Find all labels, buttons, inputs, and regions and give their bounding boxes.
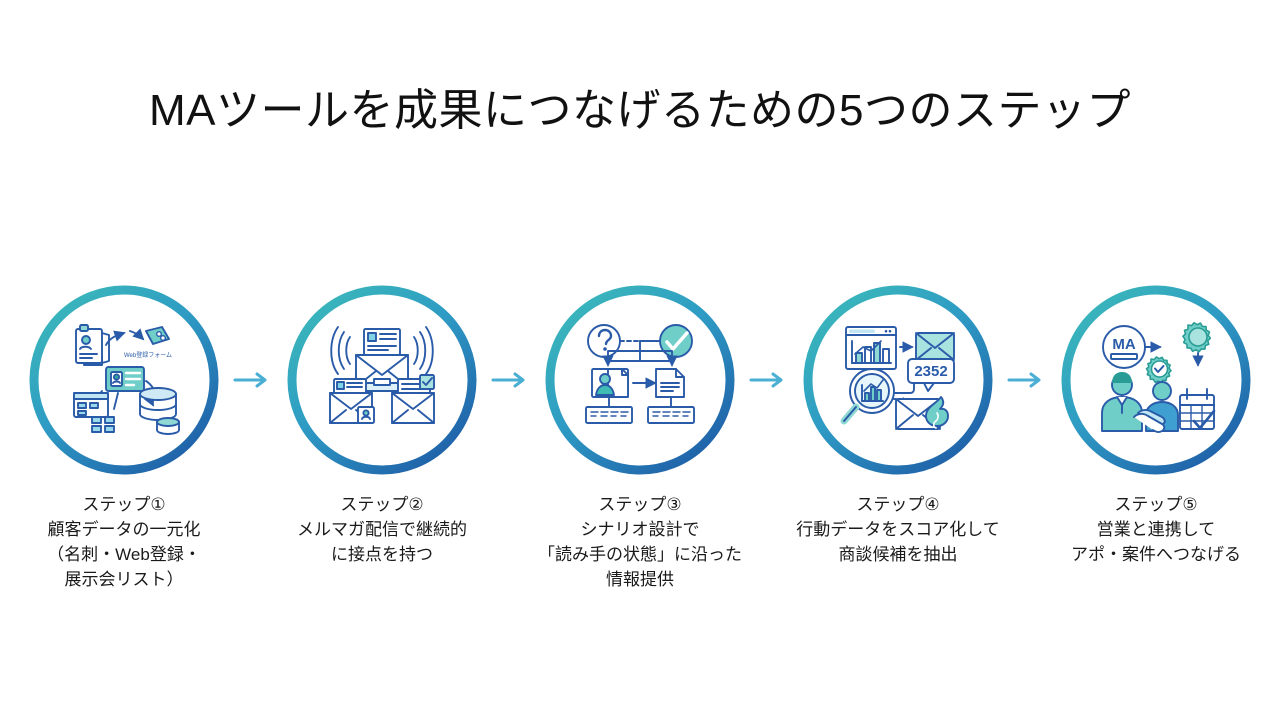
slide-canvas: MAツールを成果につなげるための5つのステップ — [0, 0, 1280, 720]
ma-badge-label: MA — [1112, 336, 1135, 353]
icon-inline-label-1: Web登録フォーム — [124, 351, 172, 359]
step-item-1[interactable]: Web登録フォーム ステップ① 顧客データの一元化 （名刺・Web登録・ 展示会… — [18, 280, 230, 592]
step-item-4[interactable]: 2352 ステップ④ 行動データをスコア化して 商談候補を抽出 — [792, 280, 1004, 567]
flow-arrow-4-5 — [1004, 280, 1050, 480]
flow-arrow-2-3 — [488, 280, 534, 480]
step-caption-2: ステップ② メルマガ配信で継続的 に接点を持つ — [266, 492, 498, 567]
flow-arrow-1-2 — [230, 280, 276, 480]
step-circle-4[interactable]: 2352 — [798, 280, 998, 480]
steps-row: Web登録フォーム ステップ① 顧客データの一元化 （名刺・Web登録・ 展示会… — [0, 280, 1280, 592]
page-title: MAツールを成果につなげるための5つのステップ — [0, 82, 1280, 140]
step-caption-1: ステップ① 顧客データの一元化 （名刺・Web登録・ 展示会リスト） — [8, 492, 240, 592]
step-circle-5[interactable]: MA — [1056, 280, 1256, 480]
step-caption-4: ステップ④ 行動データをスコア化して 商談候補を抽出 — [782, 492, 1014, 567]
step-caption-3: ステップ③ シナリオ設計で 「読み手の状態」に沿った 情報提供 — [524, 492, 756, 592]
sales-handoff-icon: MA — [1094, 321, 1218, 439]
customer-data-unification-icon: Web登録フォーム — [62, 321, 186, 439]
email-newsletter-broadcast-icon — [320, 321, 444, 439]
step-item-2[interactable]: ステップ② メルマガ配信で継続的 に接点を持つ — [276, 280, 488, 567]
step-circle-1[interactable]: Web登録フォーム — [24, 280, 224, 480]
score-bubble-value: 2352 — [914, 363, 947, 380]
behavior-scoring-icon: 2352 — [836, 321, 960, 439]
scenario-flowchart-icon — [578, 321, 702, 439]
step-item-3[interactable]: ステップ③ シナリオ設計で 「読み手の状態」に沿った 情報提供 — [534, 280, 746, 592]
flow-arrow-3-4 — [746, 280, 792, 480]
step-circle-2[interactable] — [282, 280, 482, 480]
step-circle-3[interactable] — [540, 280, 740, 480]
step-caption-5: ステップ⑤ 営業と連携して アポ・案件へつなげる — [1040, 492, 1272, 567]
step-item-5[interactable]: MA ステップ⑤ 営業と連携して アポ・案件へつなげる — [1050, 280, 1262, 567]
